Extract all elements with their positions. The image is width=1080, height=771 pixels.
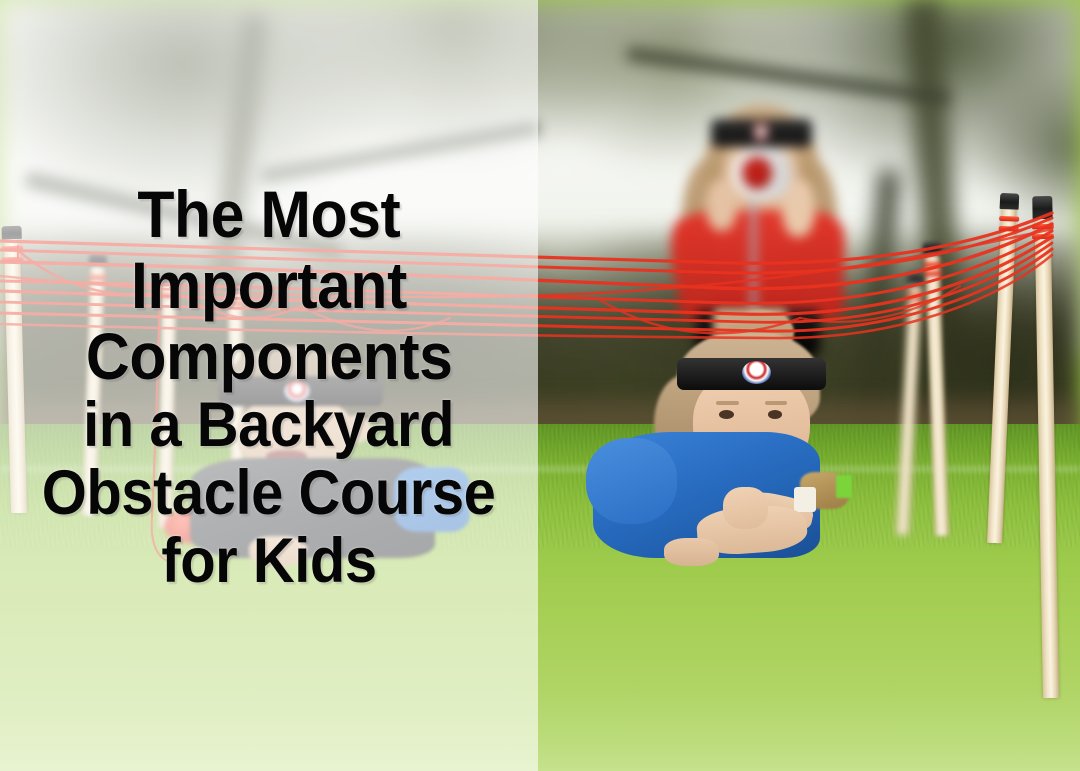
stake-cap — [923, 241, 941, 255]
headband-logo-icon — [742, 361, 771, 384]
eye — [719, 410, 734, 419]
crawling-girl — [599, 335, 923, 620]
string-wrap — [998, 226, 1018, 232]
shirt-sleeve — [586, 438, 677, 524]
hand — [664, 538, 719, 567]
wristband — [794, 487, 817, 513]
string-wrap — [999, 216, 1019, 222]
string-wrap — [1033, 234, 1054, 239]
eye — [768, 410, 783, 419]
hand — [706, 179, 737, 231]
eyebrow — [716, 401, 739, 405]
string-wrap — [924, 270, 943, 276]
fist — [723, 487, 768, 530]
string-wrap — [907, 294, 924, 300]
shoe-accent — [836, 475, 852, 498]
pin-graphic-canvas: The Most Important Components in a Backy… — [0, 0, 1080, 771]
stake-cap — [1033, 196, 1053, 219]
title-line-2: Important — [131, 255, 407, 316]
eyebrow — [765, 401, 788, 405]
title-line-6: for Kids — [161, 533, 376, 591]
stake-cap — [908, 273, 925, 286]
string-wrap — [1032, 224, 1053, 229]
title-line-1: The Most — [138, 184, 401, 245]
stake-cap — [1000, 193, 1019, 209]
title-line-3: Components — [86, 326, 452, 387]
string-wrap — [923, 262, 942, 268]
title-line-5: Obstacle Course — [42, 465, 496, 523]
megaphone-cone — [742, 157, 771, 190]
page-title: The Most Important Components in a Backy… — [0, 0, 538, 771]
title-line-4: in a Backyard — [83, 397, 454, 455]
